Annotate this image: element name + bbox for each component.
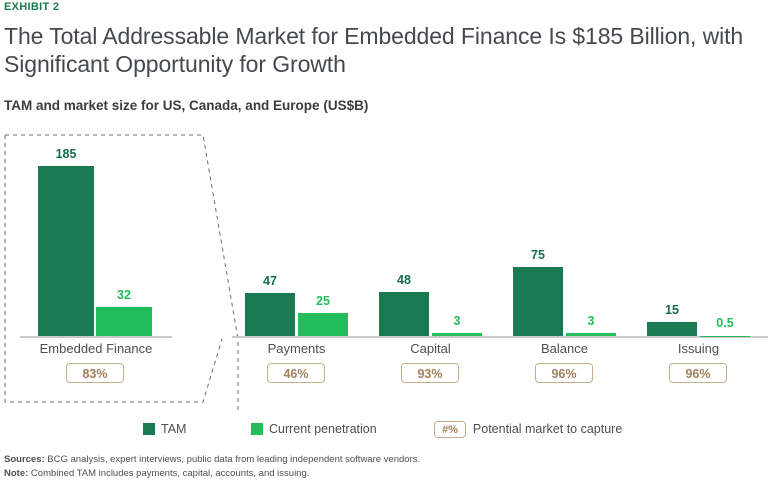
footnote-note-text: Combined TAM includes payments, capital,…	[28, 468, 309, 479]
chart-subtitle-unit: (US$B)	[323, 98, 368, 113]
pct-badge-balance: 96%	[535, 363, 593, 383]
pct-badge-issuing: 96%	[669, 363, 727, 383]
bar-penetration-issuing[interactable]	[700, 336, 750, 337]
bar-value-tam-balance: 75	[513, 248, 563, 262]
bar-tam-balance[interactable]	[513, 267, 563, 336]
category-label-embedded-finance: Embedded Finance	[20, 341, 172, 356]
pct-badge-embedded-finance: 83%	[66, 363, 124, 383]
pct-badge-payments: 46%	[267, 363, 325, 383]
bar-tam-embedded-finance[interactable]	[38, 166, 94, 336]
legend-label-potential-market: Potential market to capture	[473, 422, 622, 436]
bar-value-penetration-capital: 3	[432, 314, 482, 328]
legend-label-tam: TAM	[161, 422, 186, 436]
bar-penetration-balance[interactable]	[566, 333, 616, 336]
bar-value-tam-issuing: 15	[647, 303, 697, 317]
legend-item-current-penetration[interactable]: Current penetration	[251, 420, 377, 438]
axis-baseline-left	[20, 336, 172, 338]
legend-badge-sample: #%	[434, 421, 466, 438]
legend-item-potential-market[interactable]: #% Potential market to capture	[434, 420, 622, 438]
bar-tam-payments[interactable]	[245, 293, 295, 336]
page-title: The Total Addressable Market for Embedde…	[4, 22, 760, 78]
bar-penetration-capital[interactable]	[432, 333, 482, 336]
category-label-payments: Payments	[245, 341, 348, 356]
footnote-note: Note: Combined TAM includes payments, ca…	[4, 467, 760, 481]
bar-value-penetration-issuing: 0.5	[700, 316, 750, 330]
chart-plot-area: 185 32 Embedded Finance 83% 47 25 Paymen…	[0, 125, 768, 410]
bar-value-penetration-balance: 3	[566, 314, 616, 328]
bar-penetration-embedded-finance[interactable]	[96, 307, 152, 336]
bar-value-penetration-embedded-finance: 32	[96, 288, 152, 302]
bar-value-tam-embedded-finance: 185	[38, 147, 94, 161]
bar-penetration-payments[interactable]	[298, 313, 348, 336]
category-label-issuing: Issuing	[647, 341, 750, 356]
bar-value-penetration-payments: 25	[298, 294, 348, 308]
chart-subtitle-main: TAM and market size for US, Canada, and …	[4, 98, 323, 113]
footnote-note-label: Note:	[4, 468, 28, 479]
category-label-balance: Balance	[513, 341, 616, 356]
pct-badge-capital: 93%	[401, 363, 459, 383]
footnote-sources-label: Sources:	[4, 454, 45, 465]
bar-tam-capital[interactable]	[379, 292, 429, 336]
bar-value-tam-payments: 47	[245, 274, 295, 288]
legend-swatch-tam-icon	[143, 423, 155, 435]
axis-baseline-right	[232, 336, 768, 338]
exhibit-label: EXHIBIT 2	[4, 1, 59, 13]
category-label-capital: Capital	[379, 341, 482, 356]
footnotes: Sources: BCG analysis, expert interviews…	[4, 453, 760, 481]
bar-value-tam-capital: 48	[379, 273, 429, 287]
bar-tam-issuing[interactable]	[647, 322, 697, 336]
footnote-sources-text: BCG analysis, expert interviews, public …	[45, 454, 420, 465]
legend-item-tam[interactable]: TAM	[143, 420, 186, 438]
chart-legend: TAM Current penetration #% Potential mar…	[0, 420, 768, 442]
legend-label-current-penetration: Current penetration	[269, 422, 377, 436]
legend-swatch-penetration-icon	[251, 423, 263, 435]
footnote-sources: Sources: BCG analysis, expert interviews…	[4, 453, 760, 467]
chart-subtitle: TAM and market size for US, Canada, and …	[4, 98, 368, 113]
